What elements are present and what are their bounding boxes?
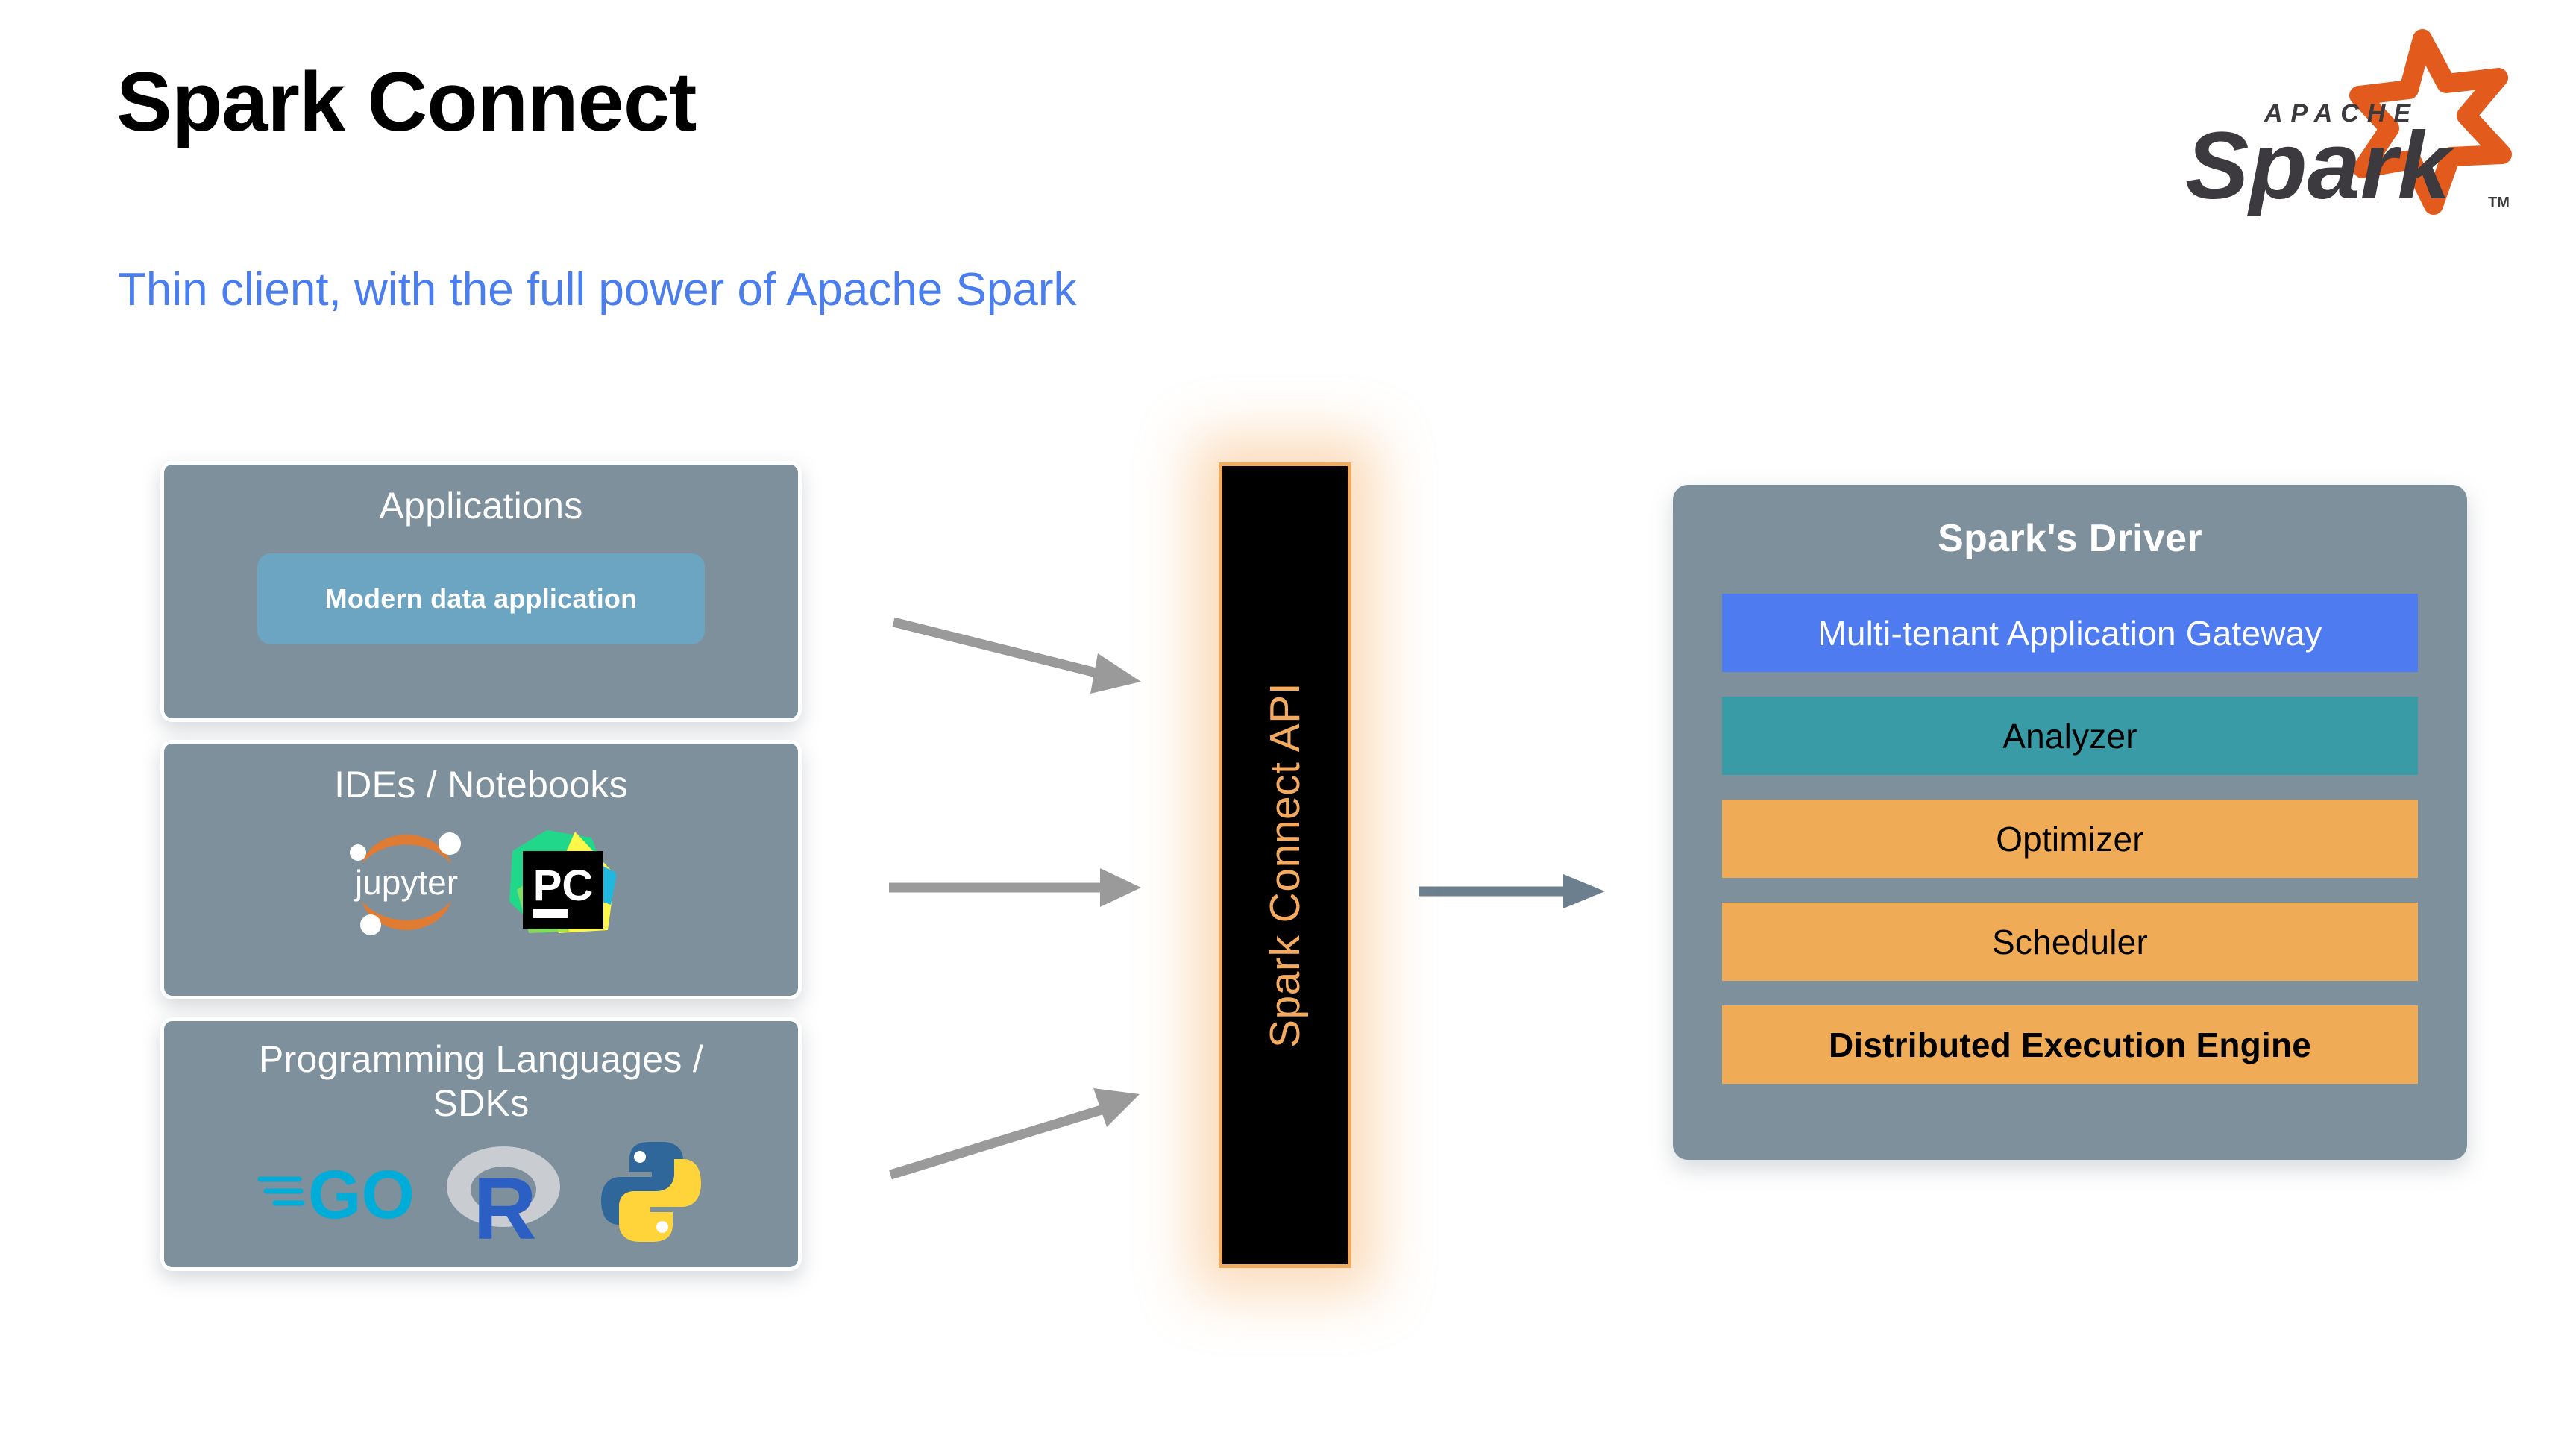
client-box-applications[interactable]: Applications Modern data application [160,461,802,722]
language-logo-row: GO R [164,1136,798,1252]
client-box-programming-languages[interactable]: Programming Languages / SDKs GO R [160,1017,802,1271]
driver-row-optimizer[interactable]: Optimizer [1722,800,2418,878]
driver-row-gateway[interactable]: Multi-tenant Application Gateway [1722,594,2418,672]
client-box-title: Applications [164,465,798,528]
svg-text:GO: GO [308,1157,412,1233]
driver-row-distributed-execution-engine[interactable]: Distributed Execution Engine [1722,1005,2418,1084]
page-title: Spark Connect [116,58,696,146]
apache-spark-logo: APACHE Spark TM [2176,22,2527,216]
client-box-title: IDEs / Notebooks [164,744,798,807]
driver-row-scheduler[interactable]: Scheduler [1722,903,2418,981]
logo-spark-text: Spark [2185,113,2455,216]
svg-text:PC: PC [533,861,594,910]
driver-row-analyzer[interactable]: Analyzer [1722,697,2418,775]
arrow-api-to-driver [1417,850,1663,940]
svg-text:jupyter: jupyter [354,863,458,902]
client-box-title-line2: SDKs [433,1082,529,1124]
driver-row-list: Multi-tenant Application Gateway Analyze… [1673,594,2467,1084]
modern-data-application-pill[interactable]: Modern data application [257,553,705,644]
spark-connect-api-bar[interactable]: Spark Connect API [1219,462,1351,1268]
driver-panel-title: Spark's Driver [1673,485,2467,561]
client-box-title-line1: Programming Languages / [259,1038,703,1080]
logo-trademark-text: TM [2488,195,2510,211]
python-logo-icon [595,1136,707,1252]
go-logo-icon: GO [256,1143,412,1244]
svg-text:R: R [473,1160,536,1248]
client-box-title: Programming Languages / SDKs [164,1021,798,1126]
arrow-languages-to-api [888,1055,1223,1205]
ide-logo-row: jupyter PC [164,817,798,948]
pycharm-logo-icon: PC [503,821,623,944]
page-subtitle: Thin client, with the full power of Apac… [118,265,1076,316]
client-box-ides-notebooks[interactable]: IDEs / Notebooks jupyter PC [160,740,802,999]
arrow-ides-to-api [888,835,1223,940]
jupyter-logo-icon: jupyter [339,817,474,948]
r-logo-icon: R [442,1136,565,1252]
spark-connect-api-label: Spark Connect API [1260,682,1310,1048]
arrow-applications-to-api [888,604,1223,753]
spark-driver-panel[interactable]: Spark's Driver Multi-tenant Application … [1673,485,2467,1160]
